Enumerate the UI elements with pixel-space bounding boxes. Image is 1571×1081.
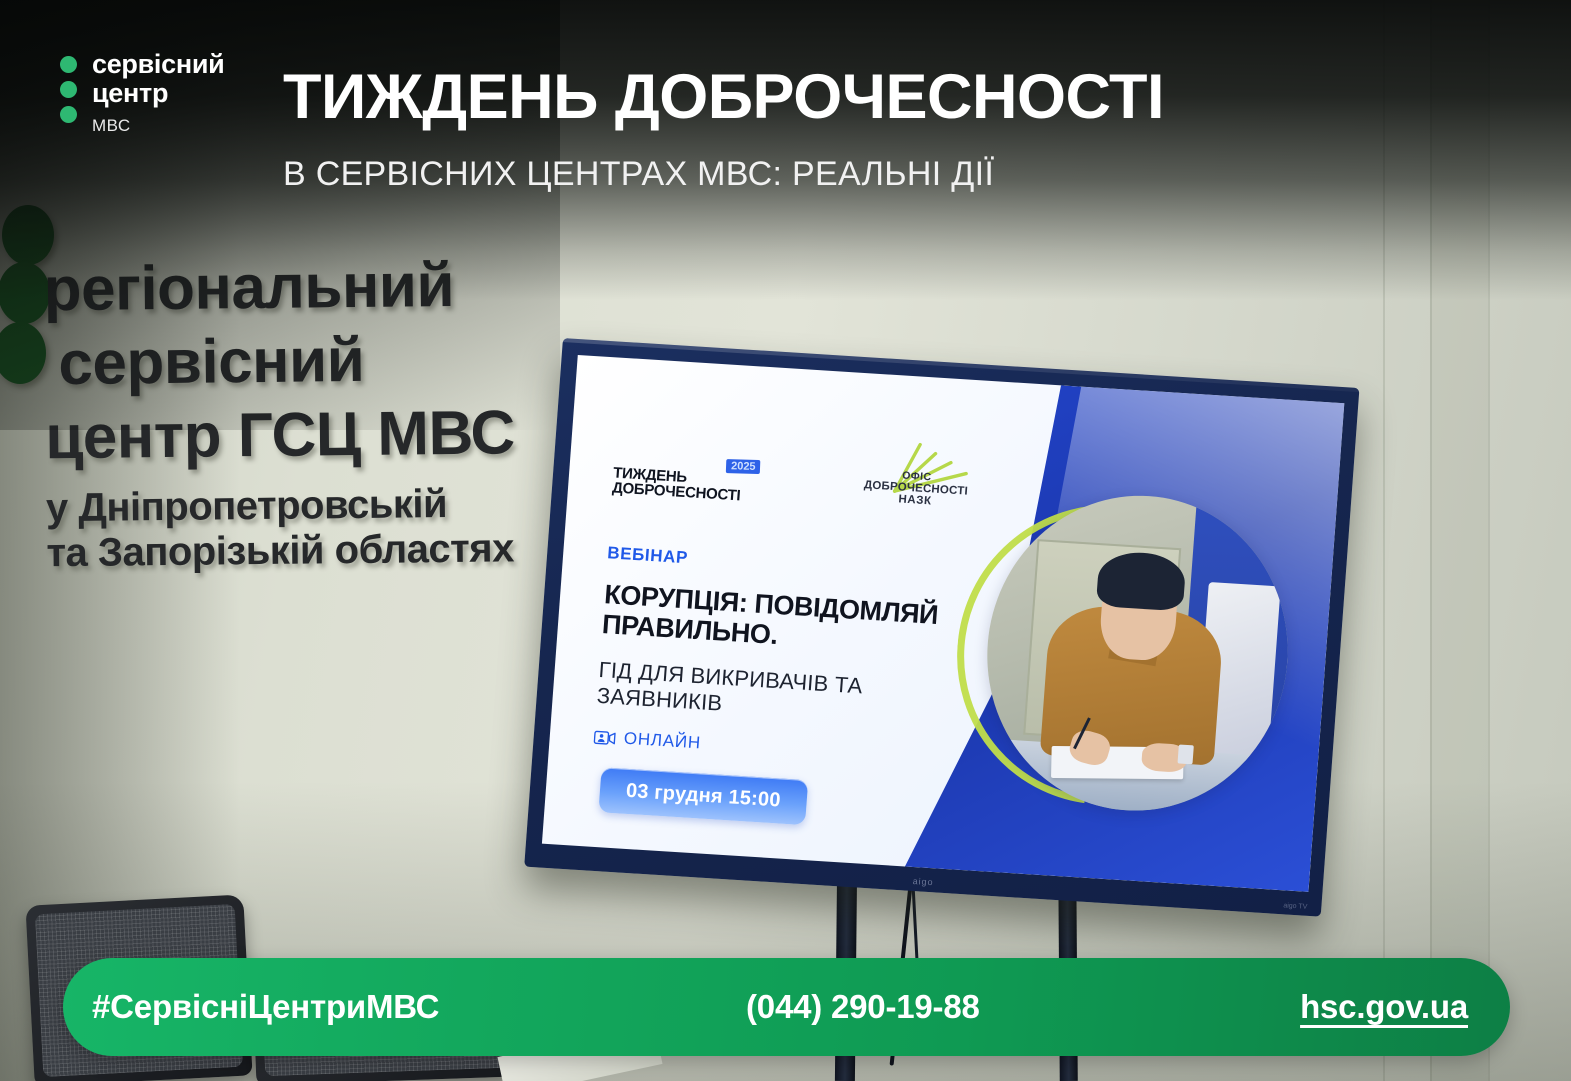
- slide-date-pill: 03 грудня 15:00: [598, 767, 808, 825]
- slide-content: ТИЖДЕНЬ ДОБРОЧЕСНОСТІ 2025: [582, 357, 1017, 871]
- tv-brand-label-right: aigo TV: [1283, 902, 1307, 910]
- footer-bar: #СервісніЦентриМВС (044) 290-19-88 hsc.g…: [63, 958, 1510, 1056]
- brand-dot-icon: [60, 81, 77, 98]
- brand-logo-line-1: сервісний: [92, 50, 224, 79]
- footer-phone[interactable]: (044) 290-19-88: [746, 988, 980, 1026]
- slide-subheadline: ГІД ДЛЯ ВИКРИВАЧІВ ТА ЗАЯВНИКІВ: [596, 657, 971, 732]
- poster-canvas: регіональний сервісний центр ГСЦ МВС у Д…: [0, 0, 1571, 1081]
- page-subtitle: В СЕРВІСНИХ ЦЕНТРАХ МВС: РЕАЛЬНІ ДІЇ: [283, 157, 1523, 193]
- page-title: ТИЖДЕНЬ ДОБРОЧЕСНОСТІ: [283, 66, 1523, 129]
- tv-frame: aigo aigo TV: [524, 338, 1359, 917]
- slide-online-label: ОНЛАЙН: [623, 729, 702, 754]
- integrity-week-logo: ТИЖДЕНЬ ДОБРОЧЕСНОСТІ: [612, 465, 742, 504]
- tv-brand-label: aigo: [912, 876, 934, 887]
- brand-logo-line-3: МВС: [92, 116, 224, 136]
- year-badge: 2025: [726, 459, 761, 474]
- slide-headline: КОРУПЦІЯ: ПОВІДОМЛЯЙ ПРАВИЛЬНО.: [601, 579, 977, 663]
- brand-dot-icon: [60, 56, 77, 73]
- slide-logo-row: ТИЖДЕНЬ ДОБРОЧЕСНОСТІ 2025: [611, 443, 985, 532]
- slide-kicker: ВЕБІНАР: [607, 543, 689, 568]
- tv-display: aigo aigo TV: [524, 338, 1359, 917]
- brand-logo-line-2: центр: [92, 79, 224, 108]
- tv-screen: ТИЖДЕНЬ ДОБРОЧЕСНОСТІ 2025: [542, 355, 1344, 892]
- brand-dot-icon: [60, 106, 77, 123]
- video-camera-person-icon: [593, 729, 616, 745]
- footer-website-link[interactable]: hsc.gov.ua: [1300, 988, 1468, 1026]
- brand-dots: [60, 56, 77, 131]
- brand-logo-text: сервісний центр МВС: [92, 50, 224, 136]
- photo-wristwatch: [1178, 744, 1194, 764]
- footer-hashtag: #СервісніЦентриМВС: [92, 988, 439, 1026]
- slide-online-row: ОНЛАЙН: [593, 727, 702, 754]
- nazk-integrity-office-logo: ОФІС ДОБРОЧЕСНОСТІ НАЗК: [850, 466, 982, 510]
